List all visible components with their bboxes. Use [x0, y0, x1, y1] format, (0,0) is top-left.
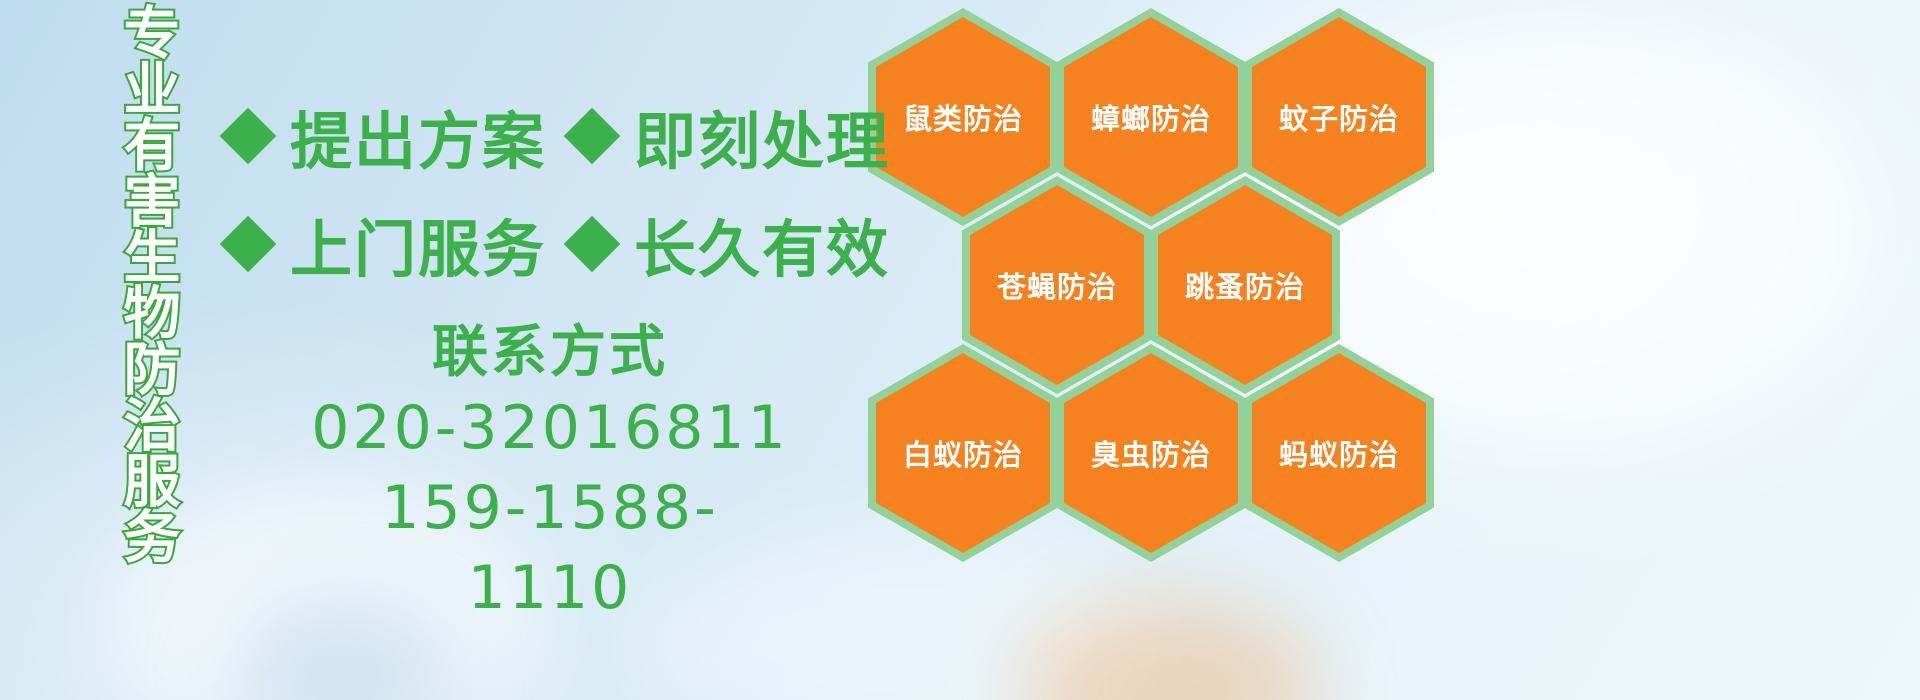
- background-blob: [1020, 600, 1320, 700]
- vertical-headline-char: 专: [124, 6, 181, 62]
- contact-block: 联系方式 020-32016811 159-1588-1110: [300, 318, 800, 628]
- service-hexagon-grid: 鼠类防治 蟑螂防治 蚊子防治 苍蝇防治 跳蚤防治 白蚁防治 臭虫防治 蚂蚁: [860, 0, 1460, 560]
- feature-label: 上门服务: [290, 199, 546, 289]
- service-label: 苍蝇防治: [997, 264, 1117, 306]
- vertical-headline-char: 害: [124, 174, 181, 230]
- vertical-headline-char: 有: [124, 118, 181, 174]
- feature-item-long-lasting: 长久有效: [572, 199, 890, 289]
- vertical-headline-char: 服: [124, 454, 181, 510]
- feature-row: 提出方案 即刻处理: [228, 82, 890, 190]
- feature-item-immediate-action: 即刻处理: [572, 91, 890, 181]
- feature-item-propose-plan: 提出方案: [228, 91, 546, 181]
- service-label: 鼠类防治: [903, 96, 1023, 138]
- feature-label: 即刻处理: [634, 91, 890, 181]
- service-label: 白蚁防治: [903, 432, 1023, 474]
- service-label: 跳蚤防治: [1185, 264, 1305, 306]
- service-label: 蚂蚁防治: [1279, 432, 1399, 474]
- feature-item-door-service: 上门服务: [228, 199, 546, 289]
- service-label: 蚊子防治: [1279, 96, 1399, 138]
- vertical-headline-char: 治: [124, 398, 181, 454]
- vertical-headline-char: 务: [124, 510, 181, 566]
- vertical-headline-char: 生: [124, 230, 181, 286]
- diamond-icon: [220, 108, 277, 165]
- feature-row: 上门服务 长久有效: [228, 190, 890, 298]
- vertical-headline-char: 业: [124, 62, 181, 118]
- pest-control-banner: 专 业 有 害 生 物 防 治 服 务 提出方案 即刻处理 上门服务: [0, 0, 1920, 700]
- service-label: 蟑螂防治: [1091, 96, 1211, 138]
- diamond-icon: [564, 216, 621, 273]
- diamond-icon: [220, 216, 277, 273]
- service-label: 臭虫防治: [1091, 432, 1211, 474]
- contact-title: 联系方式: [300, 318, 800, 388]
- phone-number-landline[interactable]: 020-32016811: [300, 388, 800, 468]
- feature-label: 提出方案: [290, 91, 546, 181]
- phone-number-mobile[interactable]: 159-1588-1110: [300, 468, 800, 628]
- diamond-icon: [564, 108, 621, 165]
- vertical-headline: 专 业 有 害 生 物 防 治 服 务: [106, 6, 198, 566]
- feature-label: 长久有效: [634, 199, 890, 289]
- feature-list: 提出方案 即刻处理 上门服务 长久有效: [228, 82, 890, 298]
- vertical-headline-char: 物: [124, 286, 181, 342]
- vertical-headline-char: 防: [124, 342, 181, 398]
